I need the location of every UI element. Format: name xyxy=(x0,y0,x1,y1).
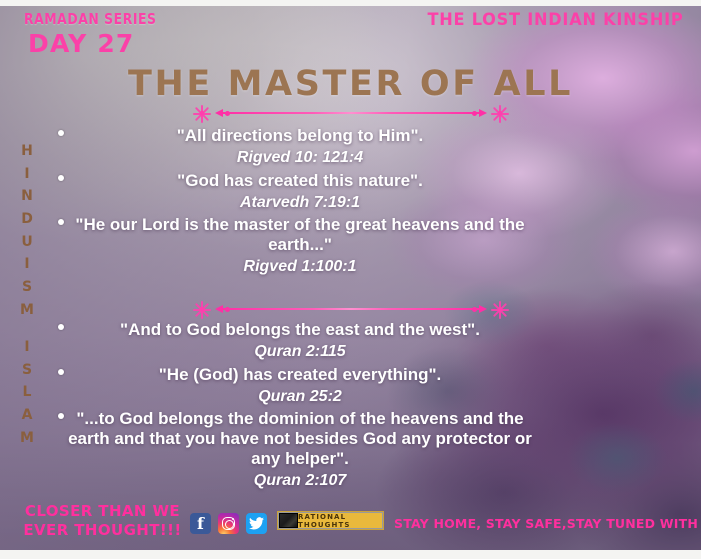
label-letter: M xyxy=(16,427,38,450)
quote-reference: Rigved 10: 121:4 xyxy=(50,147,550,169)
label-letter: H xyxy=(16,140,38,163)
facebook-icon[interactable] xyxy=(190,513,211,534)
label-letter: M xyxy=(16,299,38,322)
starburst-icon xyxy=(191,298,213,320)
quote-item: "And to God belongs the east and the wes… xyxy=(50,320,550,363)
label-letter: N xyxy=(16,185,38,208)
instagram-icon[interactable] xyxy=(218,513,239,534)
bullet-icon xyxy=(58,175,64,181)
quote-reference: Rigved 1:100:1 xyxy=(50,256,550,278)
bottom-letterbox-strip xyxy=(0,550,701,559)
quote-text: "God has created this nature". xyxy=(50,171,550,191)
quote-reference: Quran 25:2 xyxy=(50,386,550,408)
closer-line-1: CLOSER THAN WE xyxy=(20,502,185,521)
social-icon-row xyxy=(190,513,267,534)
label-letter: S xyxy=(16,276,38,299)
label-letter: S xyxy=(16,359,38,382)
quote-text: "...to God belongs the dominion of the h… xyxy=(50,409,550,469)
section-label-islam: I S L A M xyxy=(16,336,38,449)
quote-reference: Quran 2:107 xyxy=(50,470,550,492)
quote-item: "God has created this nature". Atarvedh … xyxy=(50,171,550,214)
poster-canvas: RAMADAN SERIES DAY 27 THE LOST INDIAN KI… xyxy=(0,0,701,559)
logo-label: RATIONAL THOUGHTS xyxy=(298,513,382,528)
double-arrow-icon xyxy=(213,305,489,313)
quote-item: "...to God belongs the dominion of the h… xyxy=(50,409,550,492)
starburst-icon xyxy=(191,102,213,124)
stay-tuned-text: STAY HOME, STAY SAFE,STAY TUNED WITH US.… xyxy=(394,516,701,531)
quote-text: "He (God) has created everything". xyxy=(50,365,550,385)
page-title: THE MASTER OF ALL xyxy=(0,64,701,104)
quote-item: "All directions belong to Him". Rigved 1… xyxy=(50,126,550,169)
quote-group-islam: "And to God belongs the east and the wes… xyxy=(50,320,550,494)
bullet-icon xyxy=(58,324,64,330)
quote-text: "And to God belongs the east and the wes… xyxy=(50,320,550,340)
double-arrow-icon xyxy=(213,109,489,117)
closer-line-2: EVER THOUGHT!!! xyxy=(20,521,185,540)
label-letter: I xyxy=(16,336,38,359)
label-letter: D xyxy=(16,208,38,231)
day-tag: DAY 27 xyxy=(28,29,135,58)
logo-thumbnail-icon xyxy=(279,513,298,528)
bullet-icon xyxy=(58,369,64,375)
poster-content: RAMADAN SERIES DAY 27 THE LOST INDIAN KI… xyxy=(0,0,701,559)
label-letter: U xyxy=(16,231,38,254)
quote-item: "He (God) has created everything". Quran… xyxy=(50,365,550,408)
label-letter: L xyxy=(16,381,38,404)
quote-reference: Quran 2:115 xyxy=(50,341,550,363)
label-letter: A xyxy=(16,404,38,427)
poster-footer: CLOSER THAN WE EVER THOUGHT!!! RATIONAL … xyxy=(0,502,701,550)
closer-tagline: CLOSER THAN WE EVER THOUGHT!!! xyxy=(20,502,185,540)
bullet-icon xyxy=(58,130,64,136)
top-letterbox-strip xyxy=(0,0,701,6)
twitter-icon[interactable] xyxy=(246,513,267,534)
starburst-icon xyxy=(489,102,511,124)
starburst-icon xyxy=(489,298,511,320)
kinship-tag: THE LOST INDIAN KINSHIP xyxy=(427,10,683,30)
quote-text: "All directions belong to Him". xyxy=(50,126,550,146)
series-tag: RAMADAN SERIES xyxy=(24,10,157,28)
quote-group-hinduism: "All directions belong to Him". Rigved 1… xyxy=(50,126,550,280)
rational-thoughts-logo[interactable]: RATIONAL THOUGHTS xyxy=(277,511,384,530)
label-letter: I xyxy=(16,253,38,276)
ornamental-divider-middle xyxy=(0,296,701,322)
section-label-hinduism: H I N D U I S M xyxy=(16,140,38,321)
quote-text: "He our Lord is the master of the great … xyxy=(50,215,550,255)
quote-item: "He our Lord is the master of the great … xyxy=(50,215,550,278)
quote-reference: Atarvedh 7:19:1 xyxy=(50,192,550,214)
label-letter: I xyxy=(16,163,38,186)
